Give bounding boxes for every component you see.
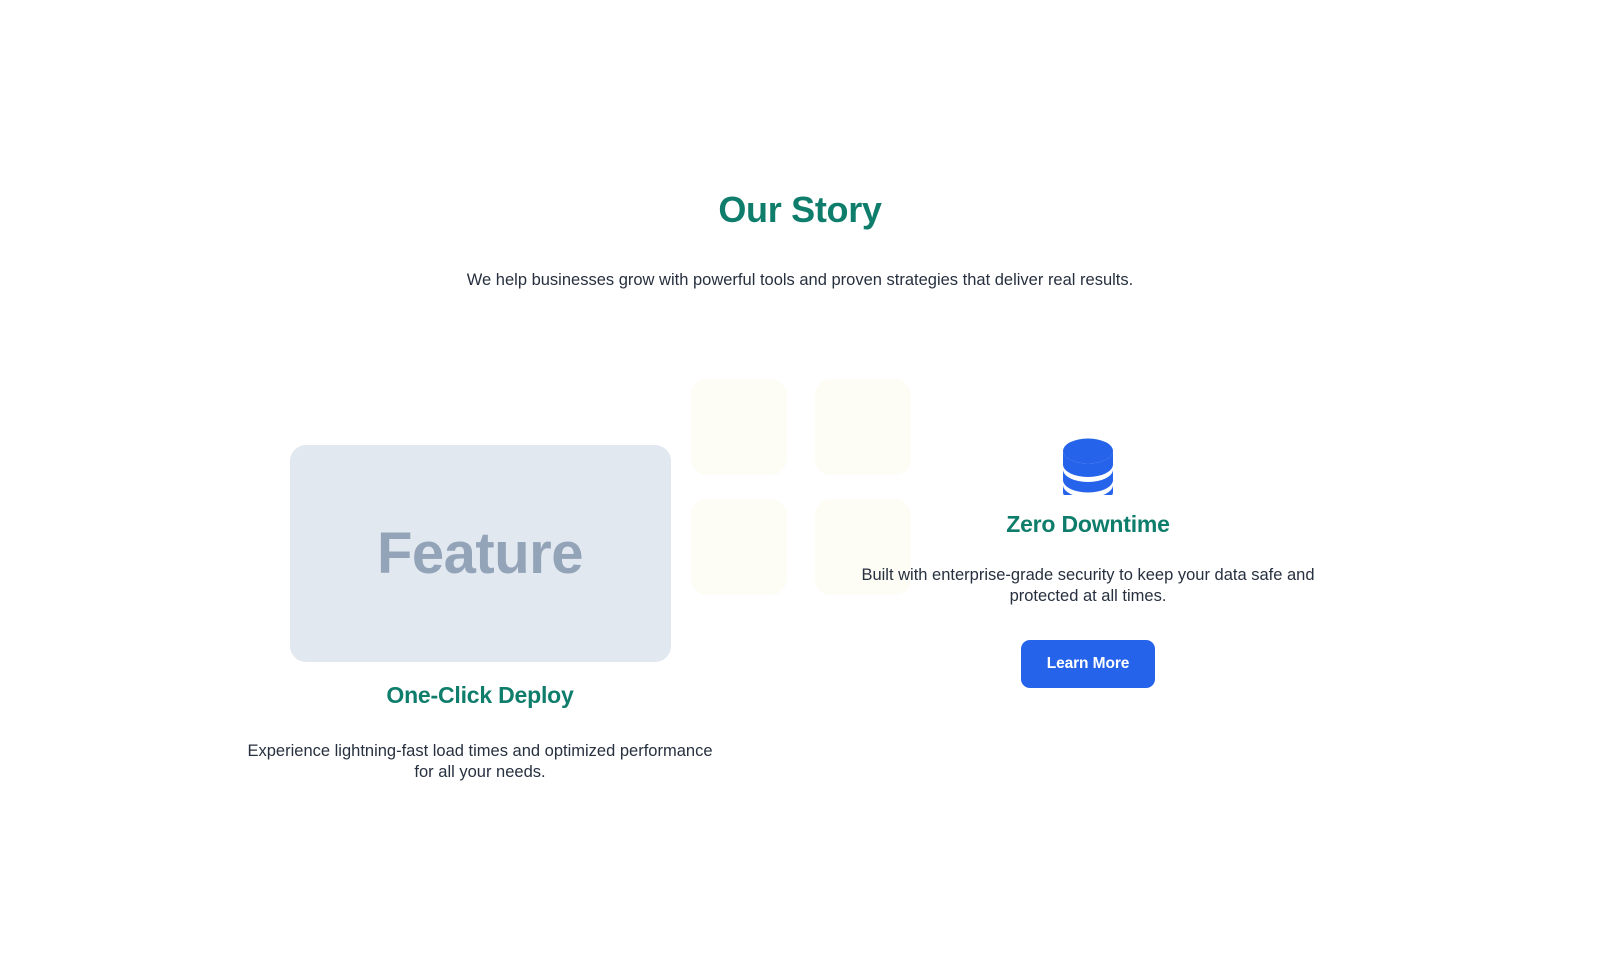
feature-image-placeholder-label: Feature <box>377 523 583 585</box>
feature-title-zero-downtime: Zero Downtime <box>828 509 1348 539</box>
page-title: Our Story <box>0 188 1600 232</box>
feature-card-zero-downtime: Zero Downtime Built with enterprise-grad… <box>828 438 1348 688</box>
database-icon <box>1062 438 1114 495</box>
section-subtitle: We help businesses grow with powerful to… <box>0 268 1600 292</box>
section-header: Our Story We help businesses grow with p… <box>0 188 1600 292</box>
feature-description-zero-downtime: Built with enterprise-grade security to … <box>832 565 1344 607</box>
feature-description-one-click-deploy: Experience lightning-fast load times and… <box>238 741 722 783</box>
feature-image-placeholder: Feature <box>290 445 671 662</box>
page-root: Our Story We help businesses grow with p… <box>0 0 1600 978</box>
cta-button-wrapper: Learn More <box>828 640 1348 688</box>
learn-more-button[interactable]: Learn More <box>1021 640 1156 688</box>
feature-title-one-click-deploy: One-Click Deploy <box>230 680 730 710</box>
feature-card-one-click-deploy: Feature One-Click Deploy Experience ligh… <box>230 445 730 783</box>
